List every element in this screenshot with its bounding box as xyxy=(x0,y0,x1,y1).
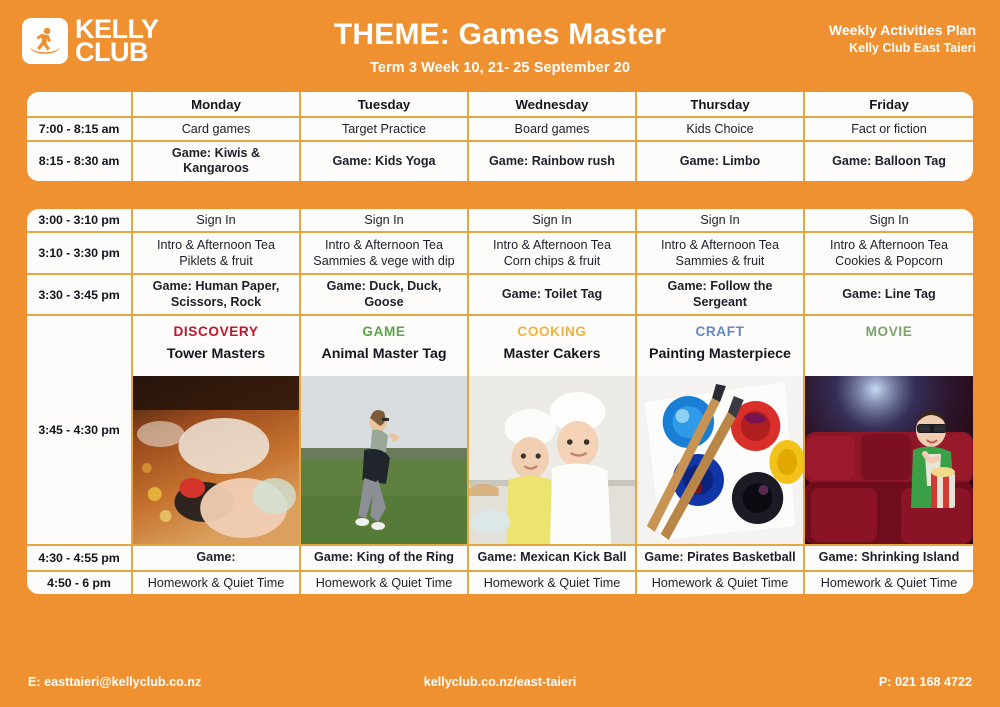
plan-identity: Weekly Activities Plan Kelly Club East T… xyxy=(829,22,976,56)
table-row: 3:30 - 3:45 pm Game: Human Paper, Scisso… xyxy=(27,275,973,316)
game-cell: Game: Limbo xyxy=(637,142,805,181)
girl-running-field-photo xyxy=(301,376,467,544)
time-label: 3:00 - 3:10 pm xyxy=(27,209,133,233)
table-row: 4:50 - 6 pm Homework & Quiet Time Homewo… xyxy=(27,572,973,594)
activity-title: Tower Masters xyxy=(167,346,265,362)
table-row: 3:10 - 3:30 pm Intro & Afternoon Tea Pik… xyxy=(27,233,973,276)
afternoon-tea-cell: Intro & Afternoon Tea Cookies & Popcorn xyxy=(805,233,973,276)
afternoon-tea-cell: Intro & Afternoon Tea Piklets & fruit xyxy=(133,233,301,276)
tea-title: Intro & Afternoon Tea xyxy=(325,238,443,252)
tea-menu: Corn chips & fruit xyxy=(474,253,630,269)
page-footer: E: easttaieri@kellyclub.co.nz kellyclub.… xyxy=(0,657,1000,707)
table-row: 4:30 - 4:55 pm Game: Game: King of the R… xyxy=(27,546,973,571)
kelly-club-logo: KELLY CLUB xyxy=(22,18,159,64)
afternoon-schedule-table: 3:00 - 3:10 pm Sign In Sign In Sign In S… xyxy=(27,209,973,594)
footer-phone[interactable]: P: 021 168 4722 xyxy=(879,675,972,689)
section-spacer xyxy=(0,181,1000,209)
game-cell: Game: Follow the Sergeant xyxy=(637,275,805,316)
game-cell: Game: Balloon Tag xyxy=(805,142,973,181)
signin-cell: Sign In xyxy=(469,209,637,233)
morning-schedule-table: Monday Tuesday Wednesday Thursday Friday… xyxy=(27,92,973,181)
category-label-discovery: DISCOVERY xyxy=(174,324,259,339)
activity-category-cell: DISCOVERY xyxy=(133,316,301,340)
activity-category-cell: GAME xyxy=(301,316,469,340)
homework-cell: Homework & Quiet Time xyxy=(469,572,637,594)
activity-photo-cell xyxy=(637,376,805,546)
activity-title: Painting Masterpiece xyxy=(649,346,791,362)
game-cell: Game: Mexican Kick Ball xyxy=(469,546,637,571)
day-header-monday: Monday xyxy=(133,92,301,118)
corner-blank-cell xyxy=(27,92,133,118)
logo-word-line2: CLUB xyxy=(75,41,159,64)
activity-name-cell: Master Cakers xyxy=(469,340,637,376)
signin-cell: Sign In xyxy=(637,209,805,233)
game-cell: Game: Kids Yoga xyxy=(301,142,469,181)
category-label-game: GAME xyxy=(362,324,405,339)
activities-plan-page: KELLY CLUB THEME: Games Master Term 3 We… xyxy=(0,0,1000,707)
activity-name-cell: Tower Masters xyxy=(133,340,301,376)
game-cell: Game: Toilet Tag xyxy=(469,275,637,316)
activity-category-cell: MOVIE xyxy=(805,316,973,340)
afternoon-tea-cell: Intro & Afternoon Tea Corn chips & fruit xyxy=(469,233,637,276)
tea-menu: Cookies & Popcorn xyxy=(810,253,968,269)
activity-name-row: Tower Masters Animal Master Tag Master C… xyxy=(27,340,973,376)
tea-title: Intro & Afternoon Tea xyxy=(493,238,611,252)
game-cell: Game: Shrinking Island xyxy=(805,546,973,571)
activity-category-row: 3:45 - 4:30 pm DISCOVERY GAME COOKING CR… xyxy=(27,316,973,340)
day-header-wednesday: Wednesday xyxy=(469,92,637,118)
time-label: 7:00 - 8:15 am xyxy=(27,118,133,142)
activity-cell: Board games xyxy=(469,118,637,142)
category-label-cooking: COOKING xyxy=(517,324,586,339)
signin-cell: Sign In xyxy=(301,209,469,233)
footer-website[interactable]: kellyclub.co.nz/east-taieri xyxy=(0,675,1000,689)
homework-cell: Homework & Quiet Time xyxy=(133,572,301,594)
activity-category-cell: COOKING xyxy=(469,316,637,340)
activity-cell: Fact or fiction xyxy=(805,118,973,142)
game-cell: Game: Human Paper, Scissors, Rock xyxy=(133,275,301,316)
lego-building-photo xyxy=(133,376,299,544)
time-label: 3:30 - 3:45 pm xyxy=(27,275,133,316)
homework-cell: Homework & Quiet Time xyxy=(637,572,805,594)
time-label: 3:45 - 4:30 pm xyxy=(27,316,133,546)
activity-photo-cell xyxy=(469,376,637,546)
afternoon-tea-cell: Intro & Afternoon Tea Sammies & vege wit… xyxy=(301,233,469,276)
activity-photo-cell xyxy=(133,376,301,546)
day-header-tuesday: Tuesday xyxy=(301,92,469,118)
table-row: 8:15 - 8:30 am Game: Kiwis & Kangaroos G… xyxy=(27,142,973,181)
page-header: KELLY CLUB THEME: Games Master Term 3 We… xyxy=(0,0,1000,92)
game-cell: Game: Line Tag xyxy=(805,275,973,316)
activity-photo-cell xyxy=(301,376,469,546)
signin-cell: Sign In xyxy=(133,209,301,233)
homework-cell: Homework & Quiet Time xyxy=(805,572,973,594)
activity-cell: Kids Choice xyxy=(637,118,805,142)
activity-photo-cell xyxy=(805,376,973,546)
activity-title: Animal Master Tag xyxy=(321,346,446,362)
running-child-icon xyxy=(22,18,68,64)
table-row: 3:00 - 3:10 pm Sign In Sign In Sign In S… xyxy=(27,209,973,233)
club-location-label: Kelly Club East Taieri xyxy=(829,40,976,57)
table-header-row: Monday Tuesday Wednesday Thursday Friday xyxy=(27,92,973,118)
game-cell: Game: Duck, Duck, Goose xyxy=(301,275,469,316)
activity-cell: Target Practice xyxy=(301,118,469,142)
activity-cell: Card games xyxy=(133,118,301,142)
plan-type-label: Weekly Activities Plan xyxy=(829,22,976,40)
tea-title: Intro & Afternoon Tea xyxy=(661,238,779,252)
day-header-thursday: Thursday xyxy=(637,92,805,118)
tea-title: Intro & Afternoon Tea xyxy=(830,238,948,252)
game-cell: Game: xyxy=(133,546,301,571)
paint-palette-brushes-photo xyxy=(637,376,803,544)
activity-name-cell: Animal Master Tag xyxy=(301,340,469,376)
table-row: 7:00 - 8:15 am Card games Target Practic… xyxy=(27,118,973,142)
afternoon-tea-cell: Intro & Afternoon Tea Sammies & fruit xyxy=(637,233,805,276)
homework-cell: Homework & Quiet Time xyxy=(301,572,469,594)
tea-menu: Sammies & fruit xyxy=(642,253,798,269)
time-label: 4:50 - 6 pm xyxy=(27,572,133,594)
game-cell: Game: Kiwis & Kangaroos xyxy=(133,142,301,181)
tea-title: Intro & Afternoon Tea xyxy=(157,238,275,252)
activity-name-cell xyxy=(805,340,973,376)
activity-photo-row xyxy=(27,376,973,546)
category-label-craft: CRAFT xyxy=(695,324,744,339)
kid-cinema-3d-glasses-photo xyxy=(805,376,973,544)
logo-wordmark: KELLY CLUB xyxy=(75,18,159,64)
activity-name-cell: Painting Masterpiece xyxy=(637,340,805,376)
game-cell: Game: Rainbow rush xyxy=(469,142,637,181)
tea-menu: Piklets & fruit xyxy=(138,253,294,269)
activity-category-cell: CRAFT xyxy=(637,316,805,340)
game-cell: Game: Pirates Basketball xyxy=(637,546,805,571)
time-label: 4:30 - 4:55 pm xyxy=(27,546,133,571)
game-cell: Game: King of the Ring xyxy=(301,546,469,571)
signin-cell: Sign In xyxy=(805,209,973,233)
time-label: 3:10 - 3:30 pm xyxy=(27,233,133,276)
kids-chef-hats-photo xyxy=(469,376,635,544)
tea-menu: Sammies & vege with dip xyxy=(306,253,462,269)
category-label-movie: MOVIE xyxy=(866,324,913,339)
activity-title: Master Cakers xyxy=(503,346,600,362)
time-label: 8:15 - 8:30 am xyxy=(27,142,133,181)
day-header-friday: Friday xyxy=(805,92,973,118)
